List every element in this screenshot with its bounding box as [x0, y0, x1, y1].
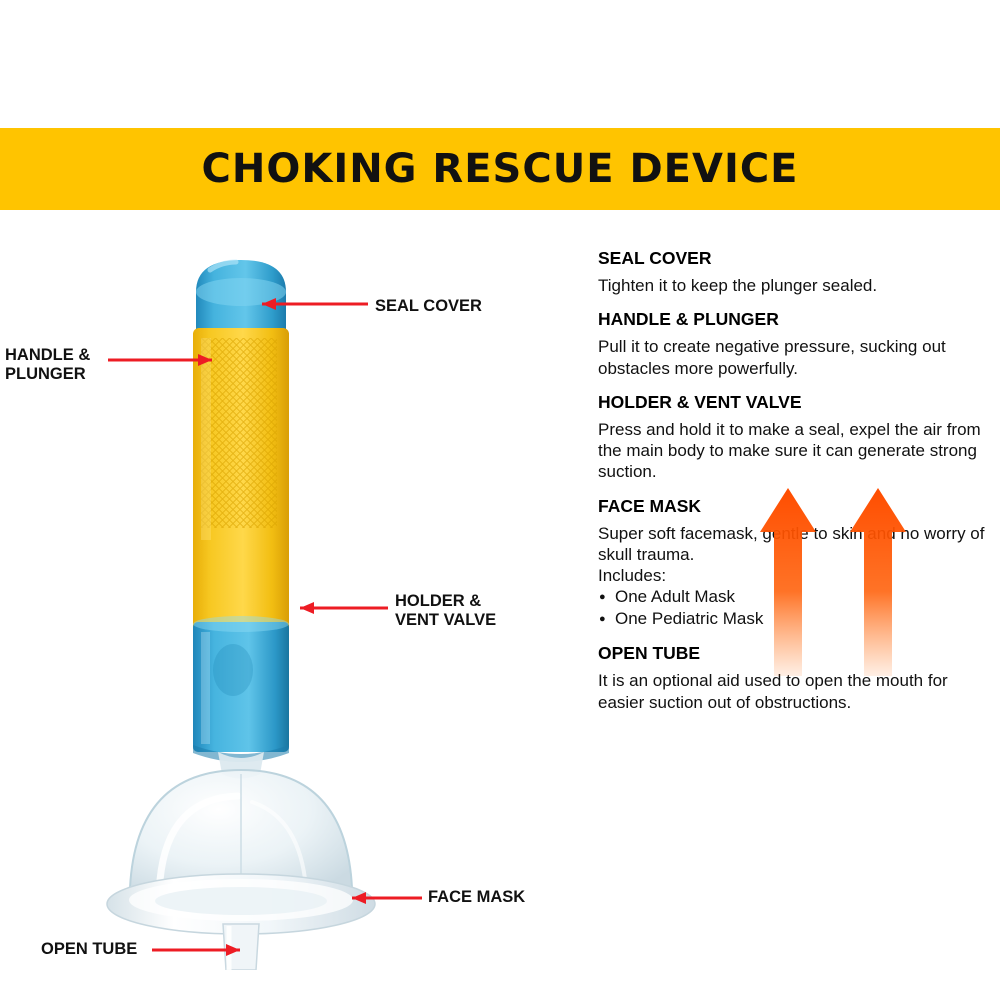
list-item: One Pediatric Mask	[598, 608, 990, 630]
callout-seal-cover: SEAL COVER	[375, 297, 482, 316]
device-svg	[100, 240, 580, 970]
section-face-mask: FACE MASK Super soft facemask, gentle to…	[598, 496, 990, 631]
section-heading-open-tube: OPEN TUBE	[598, 643, 990, 664]
section-body-open-tube: It is an optional aid used to open the m…	[598, 670, 990, 713]
section-handle-plunger: HANDLE & PLUNGER Pull it to create negat…	[598, 309, 990, 379]
section-open-tube: OPEN TUBE It is an optional aid used to …	[598, 643, 990, 713]
open-tube	[223, 924, 259, 970]
section-heading-seal-cover: SEAL COVER	[598, 248, 990, 269]
face-mask	[107, 770, 375, 934]
page-title: CHOKING RESCUE DEVICE	[201, 146, 798, 192]
callout-holder-vent-valve: HOLDER & VENT VALVE	[395, 592, 496, 630]
callout-handle-plunger: HANDLE & PLUNGER	[5, 346, 90, 384]
section-includes-label: Includes:	[598, 565, 990, 586]
title-banner: CHOKING RESCUE DEVICE	[0, 128, 1000, 210]
holder-vent-valve	[193, 616, 289, 762]
info-column: SEAL COVER Tighten it to keep the plunge…	[598, 248, 990, 726]
device-illustration	[100, 240, 580, 970]
face-mask-includes-list: One Adult Mask One Pediatric Mask	[598, 586, 990, 630]
callout-face-mask: FACE MASK	[428, 888, 525, 907]
section-body-handle-plunger: Pull it to create negative pressure, suc…	[598, 336, 990, 379]
section-holder-vent-valve: HOLDER & VENT VALVE Press and hold it to…	[598, 392, 990, 483]
section-heading-holder-vent-valve: HOLDER & VENT VALVE	[598, 392, 990, 413]
section-heading-handle-plunger: HANDLE & PLUNGER	[598, 309, 990, 330]
section-seal-cover: SEAL COVER Tighten it to keep the plunge…	[598, 248, 990, 296]
list-item: One Adult Mask	[598, 586, 990, 608]
section-heading-face-mask: FACE MASK	[598, 496, 990, 517]
section-body-face-mask: Super soft facemask, gentle to skin and …	[598, 523, 990, 566]
callout-open-tube: OPEN TUBE	[41, 940, 137, 959]
section-body-seal-cover: Tighten it to keep the plunger sealed.	[598, 275, 990, 296]
section-body-holder-vent-valve: Press and hold it to make a seal, expel …	[598, 419, 990, 483]
